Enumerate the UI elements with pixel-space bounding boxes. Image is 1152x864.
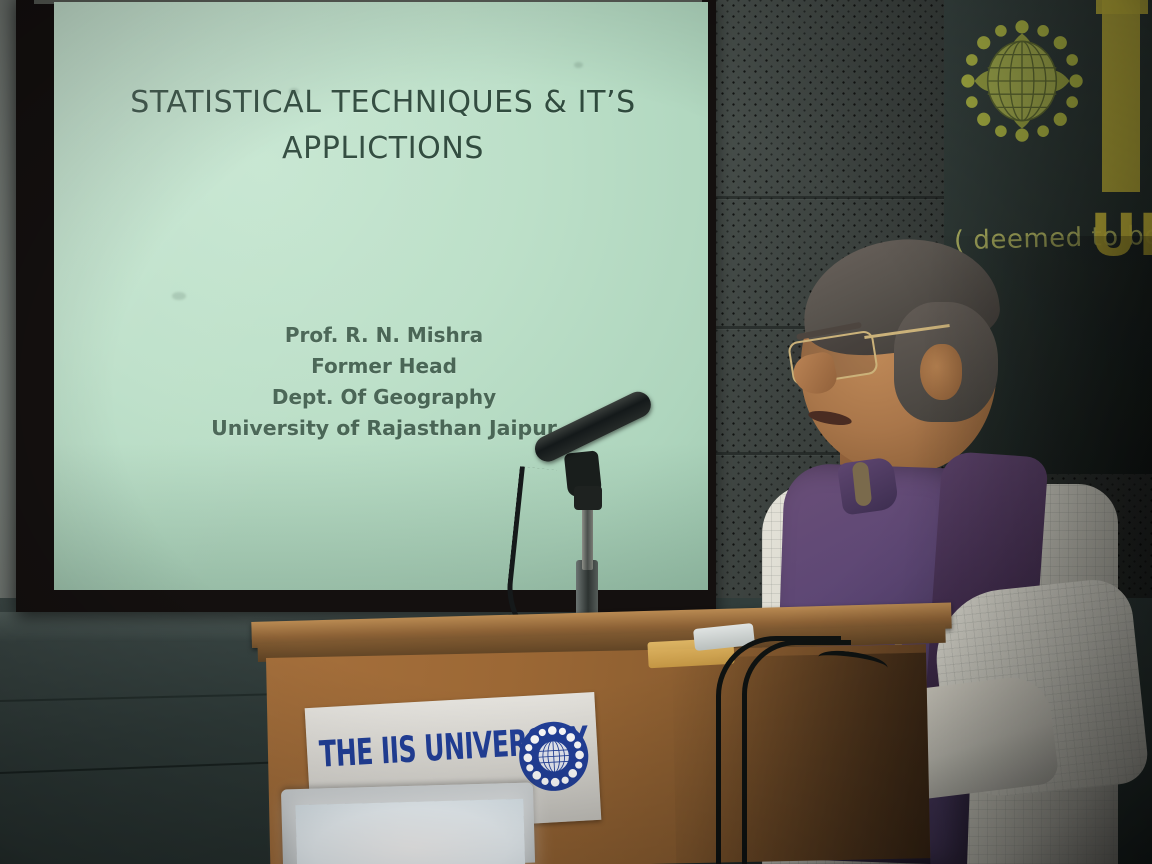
ear [920, 344, 962, 400]
slide-title-line-2: APPLICTIONS [100, 126, 666, 172]
screen-blemish [574, 62, 583, 68]
slide-title-line-1: STATISTICAL TECHNIQUES & IT’S [100, 80, 666, 126]
byline-role: Former Head [84, 351, 684, 382]
screen-blemish [172, 292, 186, 300]
presentation-slide: STATISTICAL TECHNIQUES & IT’S APPLICTION… [54, 2, 708, 590]
laptop[interactable] [281, 782, 535, 864]
byline-department: Dept. Of Geography [84, 382, 684, 413]
lecture-hall-photo: STATISTICAL TECHNIQUES & IT’S APPLICTION… [0, 0, 1152, 864]
byline-presenter-name: Prof. R. N. Mishra [84, 320, 684, 351]
cable-loop [742, 640, 851, 864]
slide-title: STATISTICAL TECHNIQUES & IT’S APPLICTION… [100, 80, 666, 172]
laptop-screen [295, 799, 525, 864]
projection-screen-frame: STATISTICAL TECHNIQUES & IT’S APPLICTION… [16, 0, 716, 612]
microphone-clip [574, 486, 602, 510]
